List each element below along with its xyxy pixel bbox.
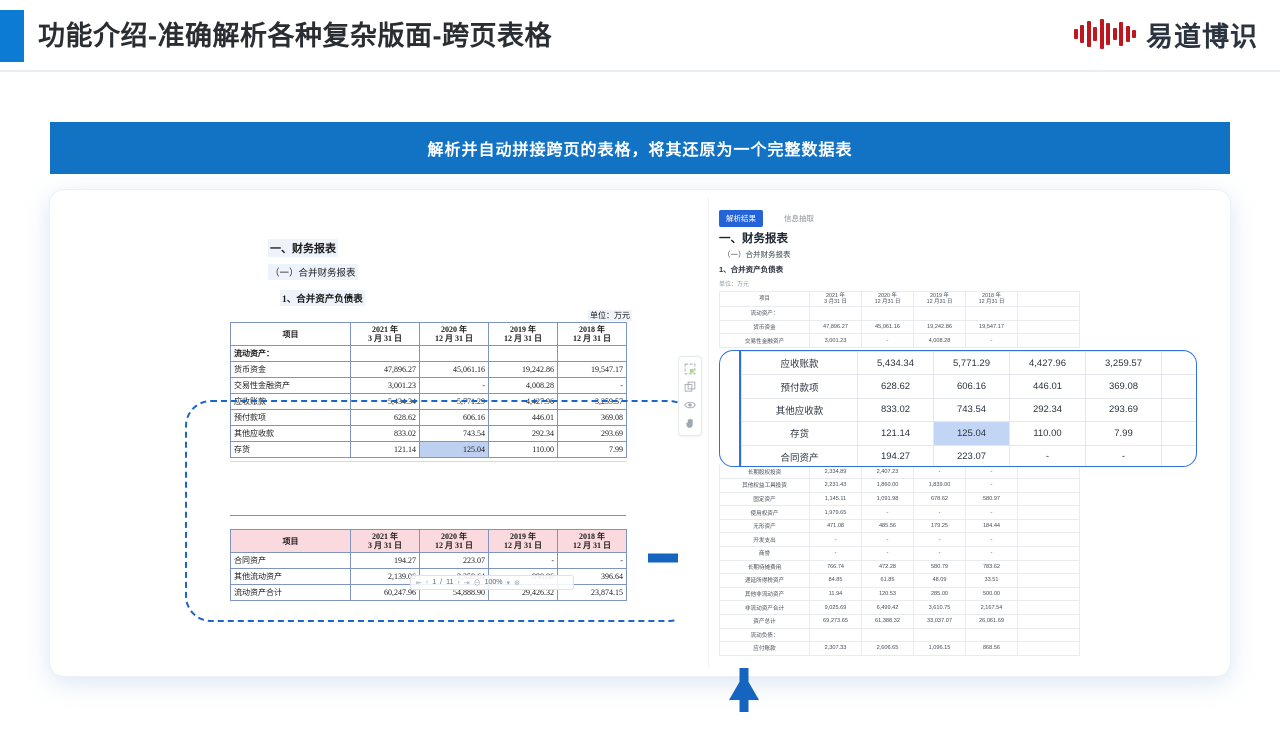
table-header-cell: 2019 年12 月 31 日: [489, 323, 558, 346]
table-row: 货币资金47,896.2745,061.1619,242.8619,547.17: [720, 320, 1080, 334]
table-cell-empty: [1018, 334, 1080, 348]
table-cell: 446.01: [1010, 375, 1086, 398]
table-cell: 5,434.34: [858, 352, 934, 375]
table-cell: 4,427.96: [1010, 352, 1086, 375]
table-cell: 19,547.17: [966, 320, 1018, 334]
table-cell: 11.94: [810, 587, 862, 601]
table-cell: 3,001.23: [351, 378, 420, 394]
table-cell: 19,242.86: [914, 320, 966, 334]
table-cell-empty: [1162, 445, 1197, 467]
table-cell-empty: [1018, 320, 1080, 334]
table-header-cell: 项目: [720, 292, 810, 307]
table-cell: 45,061.16: [420, 362, 489, 378]
logo-bar-1: [1080, 25, 1084, 43]
table-cell: [966, 628, 1018, 642]
table-cell: [810, 628, 862, 642]
row-label: 递延所得税资产: [720, 574, 810, 588]
table-cell: 84.85: [810, 574, 862, 588]
table-row: 交易性金融资产3,001.23-4,008.28-: [720, 334, 1080, 348]
table-cell: 19,547.17: [558, 362, 627, 378]
table-cell: 47,896.27: [810, 320, 862, 334]
table-cell: -: [1086, 445, 1162, 467]
table-cell: 293.69: [1086, 398, 1162, 421]
table-row: 货币资金47,896.2745,061.1619,242.8619,547.17: [231, 362, 627, 378]
row-label: 流动负债：: [720, 628, 810, 642]
row-label: 交易性金融资产: [231, 378, 351, 394]
table-row: 流动负债：: [720, 628, 1080, 642]
logo-bar-4: [1100, 19, 1104, 49]
table-cell: -: [862, 533, 914, 547]
row-label: 应付账款: [720, 642, 810, 656]
row-label: 使用权资产: [720, 506, 810, 520]
callout-row: 应收账款5,434.345,771.294,427.963,259.57: [742, 352, 1197, 375]
copy-layers-icon[interactable]: [684, 381, 696, 393]
table-row: 流动资产：: [231, 346, 627, 362]
table-cell: -: [914, 506, 966, 520]
table-cell-empty: [1018, 533, 1080, 547]
table-cell: -: [862, 506, 914, 520]
row-label: 流动资产：: [231, 346, 351, 362]
row-label: 交易性金融资产: [720, 334, 810, 348]
table-cell: 285.00: [914, 587, 966, 601]
logo-bar-7: [1119, 22, 1123, 46]
row-label: 货币资金: [720, 320, 810, 334]
table-cell: -: [914, 547, 966, 561]
content-card: 一、财务报表 （一）合并财务报表 1、合并资产负债表 单位：万元 项目2021 …: [50, 190, 1230, 676]
table-row: 商誉----: [720, 547, 1080, 561]
table-cell: -: [966, 334, 1018, 348]
table-cell: 783.62: [966, 560, 1018, 574]
result-tabs[interactable]: 解析结果 信息抽取: [719, 210, 821, 227]
row-label: 合同资产: [742, 445, 858, 467]
logo-bar-0: [1074, 29, 1078, 39]
table-cell: 3,610.75: [914, 601, 966, 615]
page-title: 功能介绍-准确解析各种复杂版面-跨页表格: [38, 14, 552, 53]
logo-bar-5: [1106, 23, 1110, 45]
table-cell: -: [420, 378, 489, 394]
table-cell: 45,061.16: [862, 320, 914, 334]
table-cell: -: [810, 533, 862, 547]
table-cell: -: [966, 533, 1018, 547]
table-header-cell: 2019 年12 月31 日: [914, 292, 966, 307]
parse-result-pane: 解析结果 信息抽取 一、财务报表 （一）合并财务报表 1、合并资产负债表 单位：…: [678, 198, 1218, 668]
doc-heading-3: 1、合并资产负债表: [280, 290, 365, 306]
table-cell: 472.28: [862, 560, 914, 574]
table-cell-empty: [1018, 574, 1080, 588]
table-row: 递延所得税资产84.8561.8548.0933.51: [720, 574, 1080, 588]
table-row: 其他非流动资产11.94120.53285.00500.00: [720, 587, 1080, 601]
logo-text: 易道博识: [1146, 15, 1258, 54]
table-cell: 580.97: [966, 492, 1018, 506]
table-cell: 4,008.28: [914, 334, 966, 348]
table-row: 使用权资产1,979.65---: [720, 506, 1080, 520]
table-header-cell: 2018 年12 月31 日: [966, 292, 1018, 307]
crop-select-icon[interactable]: [684, 363, 696, 375]
table-cell-empty: [1162, 375, 1197, 398]
table-cell: 125.04: [934, 422, 1010, 445]
table-cell: 6,499.42: [862, 601, 914, 615]
table-cell: -: [966, 506, 1018, 520]
table-cell: [558, 346, 627, 362]
table-cell: 500.00: [966, 587, 1018, 601]
table-cell: 2,606.65: [862, 642, 914, 656]
table-cell: 471.08: [810, 519, 862, 533]
table-cell: 33,037.07: [914, 614, 966, 628]
table-cell: 194.27: [858, 445, 934, 467]
row-label: 应收账款: [742, 352, 858, 375]
table-cell: -: [914, 533, 966, 547]
table-cell: 61.85: [862, 574, 914, 588]
table-cell: 120.53: [862, 587, 914, 601]
table-cell: 743.54: [934, 398, 1010, 421]
table-cell: [914, 307, 966, 321]
table-cell: -: [862, 547, 914, 561]
table-cell: -: [558, 378, 627, 394]
table-cell: 369.08: [1086, 375, 1162, 398]
table-row: 开发支出----: [720, 533, 1080, 547]
banner-text: 解析并自动拼接跨页的表格，将其还原为一个完整数据表: [427, 136, 852, 160]
table-cell: [810, 307, 862, 321]
table-cell-empty: [1018, 479, 1080, 493]
table-cell: 5,771.29: [934, 352, 1010, 375]
table-cell: 485.56: [862, 519, 914, 533]
table-header-cell: 2021 年3 月31 日: [810, 292, 862, 307]
row-label: 预付款项: [742, 375, 858, 398]
table-row: 资产总计69,273.6561,388.3233,037.0726,061.69: [720, 614, 1080, 628]
callout-row: 其他应收款833.02743.54292.34293.69: [742, 398, 1197, 421]
row-label: 开发支出: [720, 533, 810, 547]
table-cell-empty: [1018, 560, 1080, 574]
result-heading-2: （一）合并财务报表: [723, 249, 791, 260]
table-header-cell: 2018 年12 月 31 日: [558, 323, 627, 346]
table-cell-empty: [1018, 519, 1080, 533]
merged-result-table: 项目2021 年3 月31 日2020 年12 月31 日2019 年12 月3…: [719, 291, 1080, 656]
doc-unit-note: 单位：万元: [588, 310, 632, 321]
table-cell-empty: [1162, 352, 1197, 375]
table-cell-empty: [1018, 628, 1080, 642]
table-cell-empty: [1018, 506, 1080, 520]
result-heading-1: 一、财务报表: [719, 230, 788, 246]
row-label: 资产总计: [720, 614, 810, 628]
doc-heading-2: （一）合并财务报表: [268, 264, 358, 280]
table-header-cell: [1018, 292, 1080, 307]
table-cell: 1,096.15: [914, 642, 966, 656]
table-cell: 9,025.69: [810, 601, 862, 615]
table-cell: -: [810, 547, 862, 561]
table-cell: -: [966, 479, 1018, 493]
eye-icon[interactable]: [684, 399, 696, 411]
table-row: 长期待摊费用766.74472.28580.79783.62: [720, 560, 1080, 574]
table-cell: 121.14: [858, 422, 934, 445]
table-cell-empty: [1018, 547, 1080, 561]
table-cell: [914, 628, 966, 642]
tab-info-extraction[interactable]: 信息抽取: [777, 210, 821, 227]
table-cell: 179.25: [914, 519, 966, 533]
table-row: 非流动资产合计9,025.696,499.423,610.752,167.54: [720, 601, 1080, 615]
table-cell-empty: [1018, 642, 1080, 656]
row-label: 其他非流动资产: [720, 587, 810, 601]
logo-bar-8: [1126, 26, 1130, 42]
table-cell: 1,839.00: [914, 479, 966, 493]
row-label: 其他权益工具投资: [720, 479, 810, 493]
table-cell: [420, 346, 489, 362]
table-row: 流动资产：: [720, 307, 1080, 321]
table-cell: 292.34: [1010, 398, 1086, 421]
table-row: 其他权益工具投资2,231.431,860.001,839.00-: [720, 479, 1080, 493]
table-cell: 606.16: [934, 375, 1010, 398]
table-cell: 678.62: [914, 492, 966, 506]
row-label: 商誉: [720, 547, 810, 561]
logo-bar-9: [1132, 30, 1136, 38]
table-cell: [966, 307, 1018, 321]
table-row: 无形资产471.08485.56179.25184.44: [720, 519, 1080, 533]
callout-row: 预付款项628.62606.16446.01369.08: [742, 375, 1197, 398]
table-cell: -: [862, 334, 914, 348]
table-cell: 2,167.54: [966, 601, 1018, 615]
table-cell-empty: [1018, 307, 1080, 321]
table-cell: [489, 346, 558, 362]
table-header-cell: 2020 年12 月 31 日: [420, 323, 489, 346]
section-banner: 解析并自动拼接跨页的表格，将其还原为一个完整数据表: [50, 122, 1230, 174]
table-cell: 580.79: [914, 560, 966, 574]
header-accent-bar: [0, 10, 24, 62]
table-cell: 48.09: [914, 574, 966, 588]
table-cell: 1,860.00: [862, 479, 914, 493]
table-cell: [862, 307, 914, 321]
row-label: 货币资金: [231, 362, 351, 378]
table-header-cell: 项目: [231, 323, 351, 346]
table-row: 应付账款2,307.332,606.651,096.15868.56: [720, 642, 1080, 656]
callout-row: 存货121.14125.04110.007.99: [742, 422, 1197, 445]
logo-bar-2: [1087, 21, 1091, 47]
header-divider: [0, 70, 1280, 72]
table-cell: 628.62: [858, 375, 934, 398]
table-cell: 61,388.32: [862, 614, 914, 628]
doc-heading-1: 一、财务报表: [268, 239, 338, 257]
hand-pan-icon[interactable]: [684, 417, 696, 429]
row-label: 其他应收款: [742, 398, 858, 421]
table-cell: 223.07: [934, 445, 1010, 467]
table-cell: 2,231.43: [810, 479, 862, 493]
table-cell: 3,001.23: [810, 334, 862, 348]
table-header-cell: 2020 年12 月31 日: [862, 292, 914, 307]
table-cell: 1,145.11: [810, 492, 862, 506]
row-label: 固定资产: [720, 492, 810, 506]
table-cell: 4,008.28: [489, 378, 558, 394]
table-cell: 833.02: [858, 398, 934, 421]
table-cell: [862, 628, 914, 642]
table-cell: 868.56: [966, 642, 1018, 656]
row-label: 无形资产: [720, 519, 810, 533]
table-cell: 33.51: [966, 574, 1018, 588]
table-cell: 26,061.69: [966, 614, 1018, 628]
table-cell: 184.44: [966, 519, 1018, 533]
tab-parse-result[interactable]: 解析结果: [719, 210, 763, 227]
magnified-callout: 应收账款5,434.345,771.294,427.963,259.57预付款项…: [719, 350, 1197, 467]
table-cell-empty: [1018, 492, 1080, 506]
logo-bar-6: [1113, 28, 1117, 40]
table-cell: 19,242.86: [489, 362, 558, 378]
page-header: 功能介绍-准确解析各种复杂版面-跨页表格 易道博识: [0, 0, 1280, 72]
canvas-toolbar[interactable]: [678, 356, 702, 436]
table-cell-empty: [1018, 601, 1080, 615]
table-header-cell: 2021 年3 月 31 日: [351, 323, 420, 346]
logo-mark-icon: [1074, 14, 1137, 54]
table-cell: 1,979.65: [810, 506, 862, 520]
table-row: 交易性金融资产3,001.23-4,008.28-: [231, 378, 627, 394]
table-cell: -: [966, 547, 1018, 561]
row-label: 存货: [742, 422, 858, 445]
cross-page-selection-outline: [185, 400, 695, 622]
brand-logo: 易道博识: [1074, 12, 1259, 56]
result-canvas: 解析结果 信息抽取 一、财务报表 （一）合并财务报表 1、合并资产负债表 单位：…: [708, 198, 1218, 668]
table-cell-empty: [1162, 422, 1197, 445]
table-cell: 7.99: [1086, 422, 1162, 445]
table-cell: 1,091.98: [862, 492, 914, 506]
table-cell: [351, 346, 420, 362]
callout-table: 应收账款5,434.345,771.294,427.963,259.57预付款项…: [741, 351, 1197, 467]
logo-bar-3: [1093, 27, 1097, 41]
table-cell: 766.74: [810, 560, 862, 574]
table-cell: 2,307.33: [810, 642, 862, 656]
table-cell: 69,273.65: [810, 614, 862, 628]
table-cell: 3,259.57: [1086, 352, 1162, 375]
table-cell: -: [1010, 445, 1086, 467]
table-cell-empty: [1162, 398, 1197, 421]
table-cell-empty: [1018, 614, 1080, 628]
result-unit-note: 单位：万元: [719, 279, 749, 288]
result-heading-3: 1、合并资产负债表: [719, 264, 783, 275]
row-label: 长期待摊费用: [720, 560, 810, 574]
row-label: 非流动资产合计: [720, 601, 810, 615]
callout-row: 合同资产194.27223.07--: [742, 445, 1197, 467]
row-label: 流动资产：: [720, 307, 810, 321]
table-row: 固定资产1,145.111,091.98678.62580.97: [720, 492, 1080, 506]
table-cell: 47,896.27: [351, 362, 420, 378]
table-cell-empty: [1018, 587, 1080, 601]
table-cell: 110.00: [1010, 422, 1086, 445]
